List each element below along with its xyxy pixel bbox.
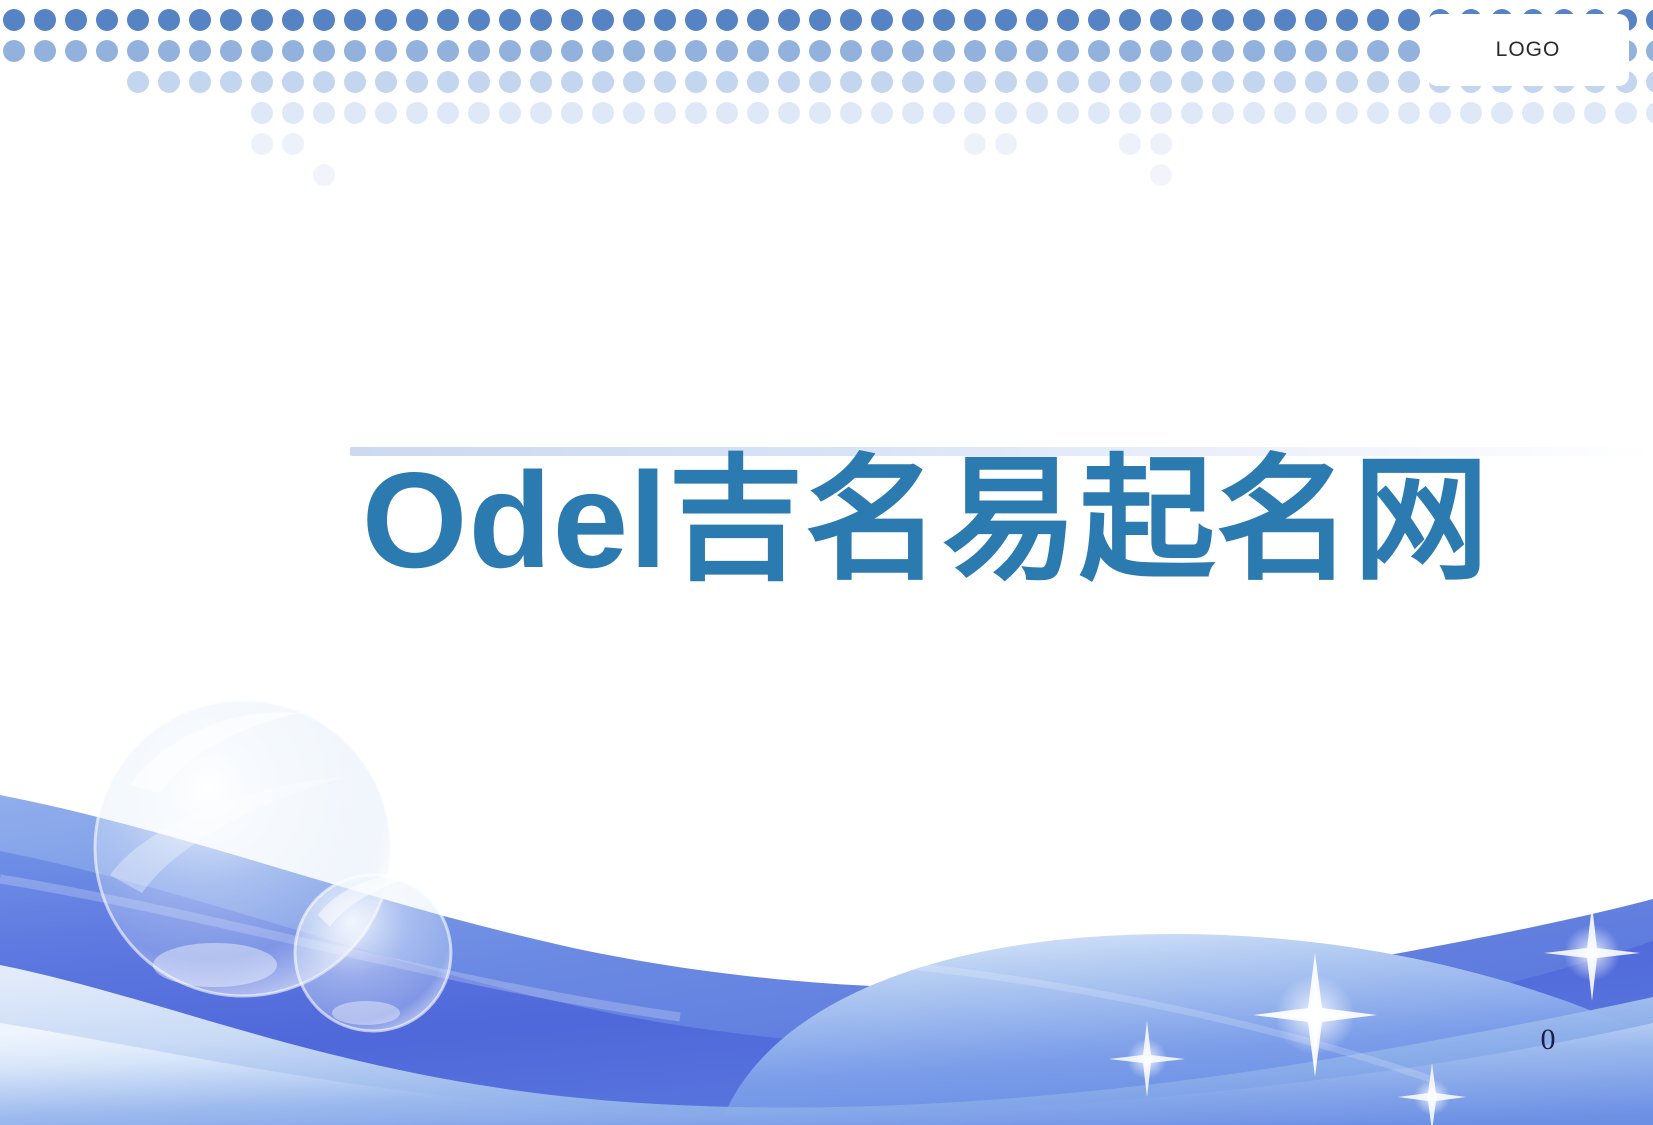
halftone-dot <box>1150 164 1172 186</box>
halftone-dot <box>437 71 459 93</box>
halftone-dot <box>189 71 211 93</box>
halftone-dot <box>530 9 552 31</box>
halftone-dot <box>251 102 273 124</box>
halftone-dot <box>189 9 211 31</box>
halftone-dot <box>592 102 614 124</box>
halftone-dot <box>933 9 955 31</box>
halftone-dot <box>251 71 273 93</box>
halftone-dot <box>933 40 955 62</box>
halftone-dot <box>1367 9 1389 31</box>
halftone-dot <box>716 40 738 62</box>
halftone-dot <box>1336 40 1358 62</box>
halftone-dot <box>1367 71 1389 93</box>
halftone-dot <box>1367 102 1389 124</box>
halftone-dot <box>1181 40 1203 62</box>
halftone-dot <box>96 9 118 31</box>
logo-placeholder-label: LOGO <box>1496 38 1561 62</box>
halftone-dot <box>34 9 56 31</box>
halftone-dot <box>499 71 521 93</box>
halftone-dot <box>716 9 738 31</box>
halftone-dot <box>654 102 676 124</box>
blue-wave-artwork <box>0 665 1653 1125</box>
halftone-dot <box>1119 71 1141 93</box>
halftone-dot <box>406 9 428 31</box>
halftone-dot <box>592 40 614 62</box>
halftone-dot <box>964 102 986 124</box>
halftone-dot <box>840 9 862 31</box>
halftone-dot <box>964 133 986 155</box>
halftone-dot <box>65 40 87 62</box>
halftone-dot <box>871 9 893 31</box>
halftone-dot <box>809 102 831 124</box>
halftone-dot <box>437 40 459 62</box>
halftone-dot <box>592 9 614 31</box>
halftone-dot <box>251 133 273 155</box>
halftone-dot <box>654 71 676 93</box>
halftone-dot <box>1646 71 1653 93</box>
halftone-dot <box>995 133 1017 155</box>
halftone-dot <box>1491 102 1513 124</box>
halftone-dot <box>995 102 1017 124</box>
halftone-dot-matrix <box>0 0 1653 200</box>
halftone-dot <box>282 9 304 31</box>
halftone-dot <box>1305 40 1327 62</box>
sparkle-small <box>1109 1021 1185 1097</box>
halftone-dot <box>933 102 955 124</box>
halftone-dot <box>685 71 707 93</box>
halftone-dot <box>1243 40 1265 62</box>
halftone-dot <box>1243 102 1265 124</box>
halftone-dot <box>1336 102 1358 124</box>
halftone-dot <box>1181 71 1203 93</box>
halftone-dot <box>127 40 149 62</box>
halftone-dot <box>1181 102 1203 124</box>
halftone-dot <box>220 9 242 31</box>
presentation-slide: LOGO Odel吉名易起名网 <box>0 0 1653 1125</box>
halftone-dot <box>1615 102 1637 124</box>
halftone-dot <box>1398 40 1420 62</box>
halftone-dot <box>561 9 583 31</box>
halftone-dot <box>406 40 428 62</box>
halftone-dot <box>1274 102 1296 124</box>
halftone-dot <box>3 9 25 31</box>
page-title: Odel吉名易起名网 <box>0 452 1490 588</box>
halftone-dot <box>902 9 924 31</box>
halftone-dot <box>1026 102 1048 124</box>
halftone-dot <box>313 9 335 31</box>
halftone-dot <box>282 40 304 62</box>
halftone-dot <box>1274 71 1296 93</box>
halftone-dot <box>1150 9 1172 31</box>
halftone-dot <box>375 102 397 124</box>
halftone-dot <box>1274 40 1296 62</box>
halftone-dot <box>778 9 800 31</box>
halftone-dot <box>189 40 211 62</box>
halftone-dot <box>96 40 118 62</box>
halftone-dot <box>282 71 304 93</box>
halftone-dot <box>1026 71 1048 93</box>
halftone-dot <box>468 40 490 62</box>
halftone-dot <box>747 9 769 31</box>
wave-deep <box>0 851 1653 1125</box>
halftone-dot <box>1522 102 1544 124</box>
halftone-dot <box>1212 9 1234 31</box>
halftone-dot <box>1088 9 1110 31</box>
halftone-dot <box>1088 71 1110 93</box>
halftone-dot <box>530 40 552 62</box>
halftone-dot <box>1026 40 1048 62</box>
halftone-dot <box>406 102 428 124</box>
halftone-dot <box>1460 102 1482 124</box>
halftone-dot <box>995 9 1017 31</box>
halftone-dot <box>747 71 769 93</box>
halftone-dot <box>1429 102 1451 124</box>
halftone-dot <box>344 9 366 31</box>
halftone-dot <box>654 40 676 62</box>
halftone-dot <box>1398 71 1420 93</box>
halftone-dot <box>623 40 645 62</box>
halftone-dot <box>313 102 335 124</box>
halftone-dot <box>933 71 955 93</box>
wave-foreground <box>0 1023 1653 1125</box>
halftone-dot <box>1057 71 1079 93</box>
halftone-dot <box>1646 9 1653 31</box>
halftone-dot <box>127 9 149 31</box>
halftone-dot <box>344 71 366 93</box>
halftone-dot <box>375 9 397 31</box>
halftone-dot <box>251 9 273 31</box>
halftone-dot <box>375 71 397 93</box>
halftone-dot <box>344 40 366 62</box>
halftone-dot <box>65 9 87 31</box>
halftone-dot <box>1150 71 1172 93</box>
halftone-dot <box>499 102 521 124</box>
halftone-dot <box>902 71 924 93</box>
halftone-dot <box>158 9 180 31</box>
halftone-dot <box>902 102 924 124</box>
halftone-dot <box>592 71 614 93</box>
halftone-dot <box>840 102 862 124</box>
halftone-dot <box>995 71 1017 93</box>
halftone-dot <box>1212 40 1234 62</box>
halftone-dot <box>530 71 552 93</box>
halftone-dot <box>716 71 738 93</box>
wave-back <box>0 795 1653 1125</box>
halftone-dot <box>1243 71 1265 93</box>
halftone-dot <box>902 40 924 62</box>
halftone-dot <box>809 71 831 93</box>
halftone-dot <box>561 71 583 93</box>
wave-right-dome <box>720 934 1653 1125</box>
halftone-dot <box>1305 9 1327 31</box>
halftone-dot <box>561 40 583 62</box>
halftone-dot <box>468 9 490 31</box>
halftone-dot <box>127 71 149 93</box>
halftone-dot <box>1274 9 1296 31</box>
halftone-dot <box>3 40 25 62</box>
halftone-dot <box>1088 40 1110 62</box>
halftone-dot <box>747 40 769 62</box>
halftone-dot <box>1646 102 1653 124</box>
halftone-dot <box>282 133 304 155</box>
halftone-dot <box>437 102 459 124</box>
halftone-dot <box>468 71 490 93</box>
halftone-dot <box>437 9 459 31</box>
halftone-dot <box>840 40 862 62</box>
halftone-dot <box>623 71 645 93</box>
halftone-dot <box>778 102 800 124</box>
halftone-dot <box>1398 102 1420 124</box>
halftone-dot <box>1212 71 1234 93</box>
halftone-dot <box>1119 9 1141 31</box>
sparkle-medium <box>1544 905 1640 1001</box>
halftone-dot <box>1119 102 1141 124</box>
halftone-dot <box>1181 9 1203 31</box>
halftone-dot <box>375 40 397 62</box>
halftone-dot <box>313 71 335 93</box>
logo-placeholder[interactable]: LOGO <box>1427 14 1629 86</box>
halftone-dot <box>158 40 180 62</box>
halftone-dot <box>747 102 769 124</box>
halftone-dot <box>1367 40 1389 62</box>
halftone-dot <box>716 102 738 124</box>
halftone-dot <box>1119 40 1141 62</box>
halftone-dot <box>344 102 366 124</box>
halftone-dot <box>871 40 893 62</box>
wave-sheen-2 <box>900 965 1430 1079</box>
halftone-dot <box>313 164 335 186</box>
halftone-dot <box>778 71 800 93</box>
halftone-dot <box>871 71 893 93</box>
halftone-dot <box>34 40 56 62</box>
halftone-dot <box>1336 9 1358 31</box>
halftone-dot <box>282 102 304 124</box>
halftone-dot <box>840 71 862 93</box>
halftone-dot <box>1057 102 1079 124</box>
halftone-dot <box>623 9 645 31</box>
halftone-dot <box>685 102 707 124</box>
halftone-dot <box>654 9 676 31</box>
halftone-dot <box>685 40 707 62</box>
halftone-dot <box>220 71 242 93</box>
halftone-dot <box>468 102 490 124</box>
halftone-dot <box>809 40 831 62</box>
halftone-dot <box>778 40 800 62</box>
halftone-dot <box>158 71 180 93</box>
halftone-dot <box>561 102 583 124</box>
halftone-dot <box>313 40 335 62</box>
wave-front <box>0 965 1653 1125</box>
wave-sheen-1 <box>0 879 680 1017</box>
halftone-dot <box>1398 9 1420 31</box>
halftone-dot <box>1336 71 1358 93</box>
halftone-dot <box>1212 102 1234 124</box>
small-bubble <box>295 874 451 1031</box>
sparkle-large <box>1253 953 1377 1077</box>
halftone-dot <box>623 102 645 124</box>
halftone-dot <box>995 40 1017 62</box>
halftone-dot <box>1057 9 1079 31</box>
halftone-dot <box>1026 9 1048 31</box>
halftone-dot <box>1305 102 1327 124</box>
large-bubble <box>95 700 391 996</box>
halftone-dot <box>964 9 986 31</box>
halftone-dot <box>1584 102 1606 124</box>
halftone-dot <box>499 40 521 62</box>
halftone-dot <box>1057 40 1079 62</box>
sparkle-tiny <box>1398 1063 1466 1125</box>
halftone-dot <box>964 71 986 93</box>
halftone-dot <box>406 71 428 93</box>
halftone-dot <box>220 40 242 62</box>
halftone-dot <box>530 102 552 124</box>
halftone-dot <box>964 40 986 62</box>
halftone-dot <box>499 9 521 31</box>
halftone-dot <box>1119 133 1141 155</box>
halftone-dot <box>1088 102 1110 124</box>
halftone-dot <box>1553 102 1575 124</box>
halftone-dot <box>1305 71 1327 93</box>
halftone-dot <box>1150 133 1172 155</box>
halftone-dot <box>871 102 893 124</box>
halftone-dot <box>685 9 707 31</box>
halftone-dot <box>1646 40 1653 62</box>
halftone-dot <box>1150 102 1172 124</box>
halftone-dot <box>1150 40 1172 62</box>
page-number: 0 <box>1528 1023 1568 1057</box>
halftone-dot <box>809 9 831 31</box>
halftone-dot <box>251 40 273 62</box>
halftone-dot <box>1243 9 1265 31</box>
